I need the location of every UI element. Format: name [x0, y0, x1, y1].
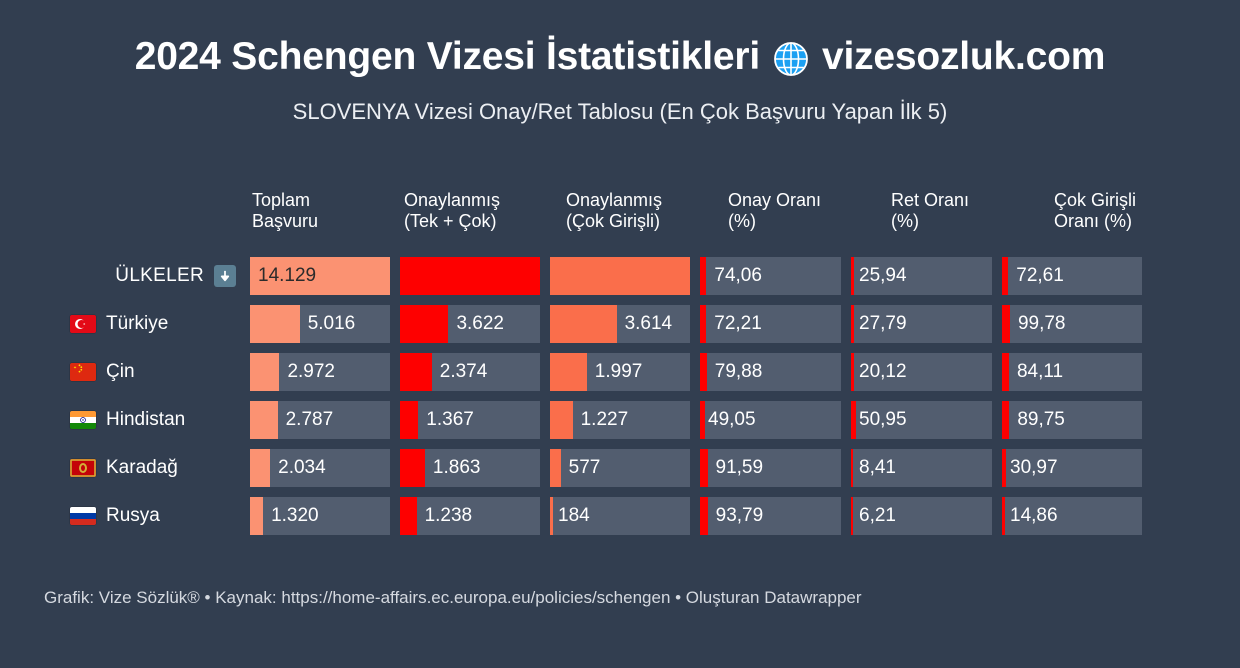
- column-header-cok-girisli-orani[interactable]: Çok Girişli Oranı (%): [1052, 190, 1204, 232]
- page-title-main: 2024 Schengen Vizesi İstatistikleri: [135, 36, 760, 79]
- cell-value: 1.997: [550, 361, 642, 383]
- cell-value: 1.367: [400, 409, 474, 431]
- table-cell[interactable]: 2.972: [250, 353, 390, 391]
- cell-value: 3.622: [400, 313, 504, 335]
- table-cell[interactable]: 84,11: [1002, 353, 1142, 391]
- cell-value: 184: [550, 505, 590, 527]
- cell-value: 72,61: [1002, 265, 1064, 287]
- table-column-headers: Toplam Başvuru Onaylanmış (Tek + Çok) On…: [44, 190, 1196, 252]
- page-subtitle: SLOVENYA Vizesi Onay/Ret Tablosu (En Çok…: [0, 99, 1240, 125]
- cell-value: 577: [550, 457, 600, 479]
- table-cell[interactable]: 79,88: [700, 353, 841, 391]
- table-cell[interactable]: 25,94: [851, 257, 992, 295]
- table-cell[interactable]: 184: [550, 497, 690, 535]
- table-row[interactable]: ÜLKELER14.12910.4647.59974,0625,9472,61: [44, 252, 1196, 300]
- country-cell[interactable]: Karadağ: [44, 457, 250, 479]
- table-cell[interactable]: 1.320: [250, 497, 390, 535]
- cell-value: 99,78: [1002, 313, 1066, 335]
- table-row[interactable]: Türkiye5.0163.6223.61472,2127,7999,78: [44, 300, 1196, 348]
- country-cell[interactable]: ÜLKELER: [44, 265, 250, 287]
- cell-value: 1.238: [400, 505, 472, 527]
- country-cell[interactable]: Rusya: [44, 505, 250, 527]
- cell-value: 5.016: [250, 313, 355, 335]
- table-row[interactable]: Çin2.9722.3741.99779,8820,1284,11: [44, 348, 1196, 396]
- flag-india-icon: [70, 411, 96, 429]
- cell-value: 10.464: [400, 265, 540, 287]
- cell-value: 72,21: [700, 313, 762, 335]
- country-label-group: Türkiye: [70, 313, 236, 335]
- table-row[interactable]: Rusya1.3201.23818493,796,2114,86: [44, 492, 1196, 540]
- cell-value: 93,79: [700, 505, 763, 527]
- table-cell[interactable]: 99,78: [1002, 305, 1142, 343]
- table-cell[interactable]: 49,05: [700, 401, 841, 439]
- cell-value: 25,94: [851, 265, 907, 287]
- country-cell[interactable]: Hindistan: [44, 409, 250, 431]
- table-cell[interactable]: 1.863: [400, 449, 540, 487]
- table-cell[interactable]: 50,95: [851, 401, 992, 439]
- cell-value: 14.129: [250, 265, 316, 287]
- page-title: 2024 Schengen Vizesi İstatistikleri vize…: [0, 36, 1240, 79]
- cell-value: 1.863: [400, 457, 480, 479]
- column-header-onaylanmis-tek-cok[interactable]: Onaylanmış (Tek + Çok): [402, 190, 564, 232]
- country-label-group: Çin: [70, 361, 236, 383]
- cell-value: 49,05: [700, 409, 756, 431]
- table-cell[interactable]: 2.374: [400, 353, 540, 391]
- table-cell[interactable]: 577: [550, 449, 690, 487]
- cell-value: 8,41: [851, 457, 896, 479]
- country-cell[interactable]: Çin: [44, 361, 250, 383]
- cell-value: 50,95: [851, 409, 907, 431]
- column-header-onay-orani[interactable]: Onay Oranı (%): [726, 190, 889, 232]
- page-header: 2024 Schengen Vizesi İstatistikleri vize…: [0, 0, 1240, 125]
- cell-value: 89,75: [1002, 409, 1065, 431]
- table-row[interactable]: Karadağ2.0341.86357791,598,4130,97: [44, 444, 1196, 492]
- cell-value: 20,12: [851, 361, 907, 383]
- table-cell[interactable]: 27,79: [851, 305, 992, 343]
- table-cell[interactable]: 14.129: [250, 257, 390, 295]
- cell-value: 3.614: [550, 313, 672, 335]
- column-header-onaylanmis-cok-girisli[interactable]: Onaylanmış (Çok Girişli): [564, 190, 726, 232]
- country-name: Rusya: [106, 505, 160, 527]
- table-cell[interactable]: 1.227: [550, 401, 690, 439]
- table-cell[interactable]: 1.367: [400, 401, 540, 439]
- country-column-label: ÜLKELER: [115, 265, 204, 287]
- cell-value: 2.374: [400, 361, 487, 383]
- cell-value: 27,79: [851, 313, 907, 335]
- table-cell[interactable]: 91,59: [700, 449, 841, 487]
- cell-value: 91,59: [700, 457, 763, 479]
- cell-value: 7.599: [550, 265, 690, 287]
- country-label-group: Rusya: [70, 505, 236, 527]
- table-cell[interactable]: 3.622: [400, 305, 540, 343]
- table-cell[interactable]: 2.034: [250, 449, 390, 487]
- table-cell[interactable]: 10.464: [400, 257, 540, 295]
- globe-icon: [772, 40, 810, 78]
- cell-value: 2.034: [250, 457, 326, 479]
- cell-value: 2.972: [250, 361, 335, 383]
- table-cell[interactable]: 20,12: [851, 353, 992, 391]
- country-name: Çin: [106, 361, 135, 383]
- cell-value: 2.787: [250, 409, 333, 431]
- flag-montenegro-icon: [70, 459, 96, 477]
- column-header-toplam-basvuru[interactable]: Toplam Başvuru: [250, 190, 402, 232]
- cell-value: 1.227: [550, 409, 628, 431]
- table-cell[interactable]: 89,75: [1002, 401, 1142, 439]
- country-name: Karadağ: [106, 457, 178, 479]
- table-cell[interactable]: 30,97: [1002, 449, 1142, 487]
- table-cell[interactable]: 14,86: [1002, 497, 1142, 535]
- country-name: Türkiye: [106, 313, 168, 335]
- table-cell[interactable]: 6,21: [851, 497, 992, 535]
- cell-value: 6,21: [851, 505, 896, 527]
- sort-descending-arrow-icon[interactable]: [214, 265, 236, 287]
- cell-value: 1.320: [250, 505, 319, 527]
- table-cell[interactable]: 74,06: [700, 257, 841, 295]
- chart-footer: Grafik: Vize Sözlük® • Kaynak: https://h…: [44, 588, 862, 608]
- flag-turkey-icon: [70, 315, 96, 333]
- table-cell[interactable]: 1.997: [550, 353, 690, 391]
- flag-china-icon: [70, 363, 96, 381]
- cell-value: 14,86: [1002, 505, 1058, 527]
- table-cell[interactable]: 8,41: [851, 449, 992, 487]
- table-cell[interactable]: 5.016: [250, 305, 390, 343]
- table-cell[interactable]: 7.599: [550, 257, 690, 295]
- table-cell[interactable]: 72,21: [700, 305, 841, 343]
- column-header-ret-orani[interactable]: Ret Oranı (%): [889, 190, 1052, 232]
- table-cell[interactable]: 72,61: [1002, 257, 1142, 295]
- table-cell[interactable]: 3.614: [550, 305, 690, 343]
- cell-value: 74,06: [700, 265, 762, 287]
- country-name: Hindistan: [106, 409, 185, 431]
- page-title-domain: vizesozluk.com: [822, 36, 1105, 79]
- country-cell[interactable]: Türkiye: [44, 313, 250, 335]
- table-cell[interactable]: 1.238: [400, 497, 540, 535]
- cell-value: 30,97: [1002, 457, 1058, 479]
- cell-value: 84,11: [1002, 361, 1063, 383]
- stats-table: Toplam Başvuru Onaylanmış (Tek + Çok) On…: [44, 190, 1196, 540]
- table-body: ÜLKELER14.12910.4647.59974,0625,9472,61T…: [44, 252, 1196, 540]
- flag-russia-icon: [70, 507, 96, 525]
- table-cell[interactable]: 93,79: [700, 497, 841, 535]
- cell-value: 79,88: [700, 361, 762, 383]
- country-label-group: Karadağ: [70, 457, 236, 479]
- table-row[interactable]: Hindistan2.7871.3671.22749,0550,9589,75: [44, 396, 1196, 444]
- country-label-group: Hindistan: [70, 409, 236, 431]
- table-cell[interactable]: 2.787: [250, 401, 390, 439]
